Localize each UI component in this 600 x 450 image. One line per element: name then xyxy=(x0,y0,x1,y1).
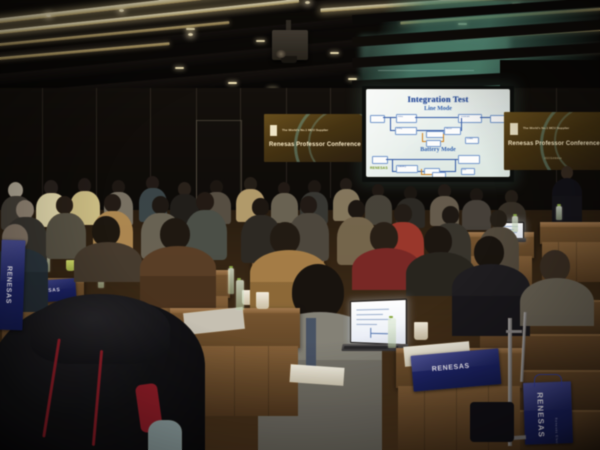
paper-cup xyxy=(414,322,428,340)
water-bottle xyxy=(512,216,518,232)
banner-left-title: Renesas Professor Conference xyxy=(269,142,361,148)
paper-sheet xyxy=(289,364,344,386)
jacket-grey-panel xyxy=(148,420,182,450)
projection-screen: Integration Test Line Mode Rect Inverter… xyxy=(366,89,510,177)
paper-cup xyxy=(256,292,269,309)
conference-photo: Integration Test Line Mode Rect Inverter… xyxy=(0,0,600,450)
water-bottle xyxy=(228,268,234,294)
foreground-laptop-screen[interactable] xyxy=(350,299,407,346)
slide-section-battery-mode: Battery Mode xyxy=(366,147,510,153)
slide-title: Integration Test xyxy=(366,94,510,104)
slide-section-line-mode: Line Mode xyxy=(366,106,510,112)
banner-left-tagline: The World's No.1 MCU Supplier xyxy=(282,128,328,132)
banner-left: The World's No.1 MCU Supplier Renesas Pr… xyxy=(264,114,362,162)
equipment-stand-cross xyxy=(506,330,522,333)
table-right-edge xyxy=(540,222,600,244)
floor-bag-dark xyxy=(470,402,514,442)
banner-right: The World's No.1 MCU Supplier Renesas Pr… xyxy=(504,112,600,170)
renesas-bag-floor-right[interactable]: RENESAS Renesas Electronics xyxy=(523,381,573,445)
banner-right-subnote: 2013 Exhibition xyxy=(544,157,562,160)
bag-handle xyxy=(534,374,562,387)
banner-right-tagline: The World's No.1 MCU Supplier xyxy=(523,126,569,130)
renesas-bag-left-floor[interactable]: RENESAS xyxy=(0,240,26,331)
water-bottle xyxy=(236,280,244,310)
projector-lens xyxy=(276,50,286,58)
water-bottle xyxy=(388,318,396,348)
water-bottle xyxy=(556,206,562,220)
renesas-folder-foreground[interactable]: RENESAS xyxy=(411,348,502,392)
slide-footer-logo: RENESAS xyxy=(370,166,388,170)
banner-right-title: Renesas Professor Conference xyxy=(508,141,600,147)
